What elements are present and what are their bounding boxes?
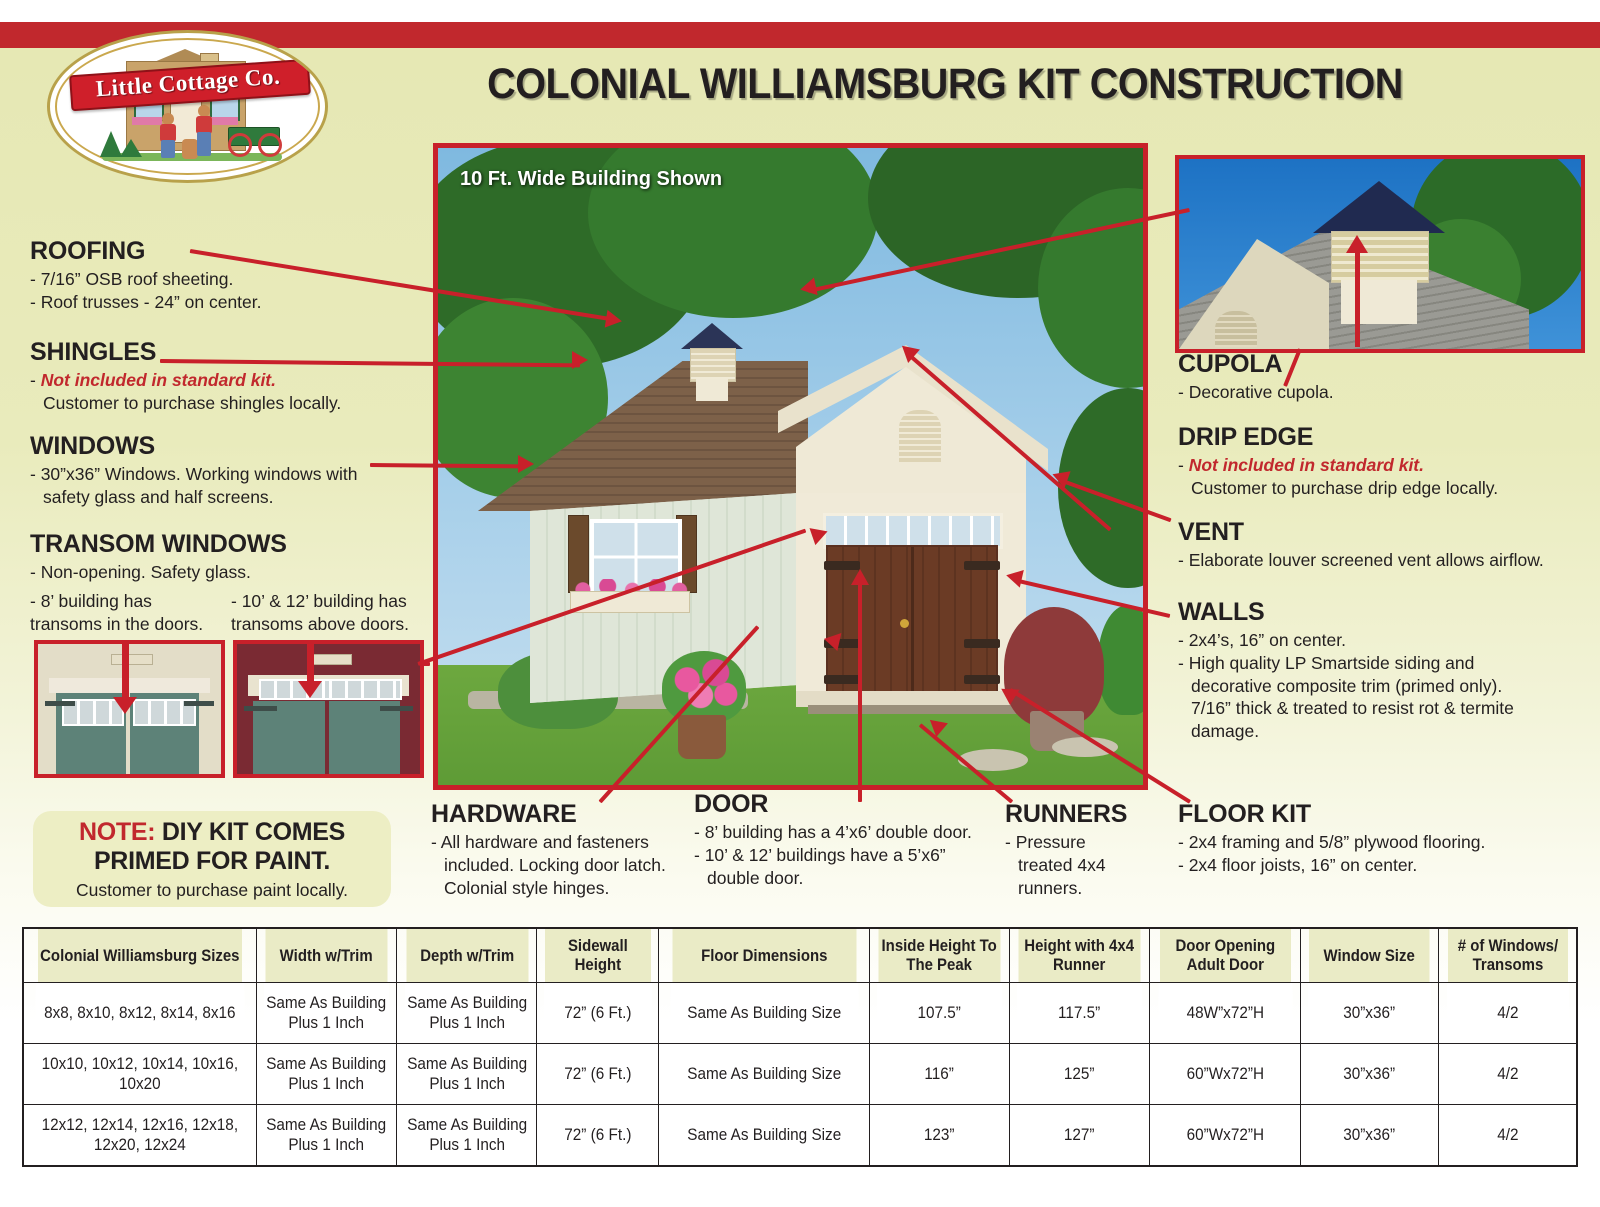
column-header-width: Width w/Trim: [265, 928, 388, 982]
cell-peak: 116”: [876, 1043, 1002, 1104]
feature-line: - 7/16” OSB roof sheeting.: [30, 268, 420, 291]
transom-10-12ft-line: - 10’ & 12’ building has: [231, 590, 421, 613]
dash: -: [30, 370, 36, 390]
feature-line: - Non-opening. Safety glass.: [30, 561, 430, 584]
cell-runner-height: 117.5”: [1016, 982, 1142, 1043]
feature-runners: RUNNERS - Pressure treated 4x4 runners.: [1005, 800, 1165, 899]
cell-depth: Same As Building Plus 1 Inch: [404, 982, 530, 1043]
feature-line: damage.: [1178, 720, 1598, 743]
cupola-closeup-photo: [1175, 155, 1585, 353]
feature-line: - 2x4 framing and 5/8” plywood flooring.: [1178, 831, 1588, 854]
feature-line: 7/16” thick & treated to resist rot & te…: [1178, 697, 1598, 720]
feature-line: - Decorative cupola.: [1178, 381, 1588, 404]
feature-heading: RUNNERS: [1005, 800, 1165, 829]
column-header-floor-dimensions: Floor Dimensions: [671, 928, 856, 982]
logo-ribbon: Little Cottage Co.: [70, 63, 306, 103]
note-box: NOTE: DIY KIT COMES PRIMED FOR PAINT. Cu…: [33, 811, 391, 907]
arrow-cupola: [798, 278, 817, 299]
feature-heading: ROOFING: [30, 237, 420, 266]
feature-line: double door.: [694, 867, 994, 890]
feature-line: - Elaborate louver screened vent allows …: [1178, 549, 1598, 572]
arrow-shingles: [572, 351, 588, 369]
top-white-margin: [0, 0, 1600, 22]
feature-vent: VENT - Elaborate louver screened vent al…: [1178, 518, 1598, 572]
page-title: COLONIAL WILLIAMSBURG KIT CONSTRUCTION: [462, 60, 1428, 109]
feature-line: - All hardware and fasteners: [431, 831, 681, 854]
product-spec-sheet: Little Cottage Co. COLONIAL WILLIAMSBURG…: [0, 0, 1600, 1207]
column-header-sidewall-height: Sidewall Height: [544, 928, 651, 982]
cell-peak: 123”: [876, 1104, 1002, 1166]
cell-door-opening: 60”Wx72”H: [1157, 1043, 1293, 1104]
feature-line: - Roof trusses - 24” on center.: [30, 291, 420, 314]
cell-windows-transoms: 4/2: [1446, 1043, 1570, 1104]
shed-illustration: [478, 323, 1078, 713]
cell-window-size: 30”x36”: [1307, 1104, 1431, 1166]
note-line-2: PRIMED FOR PAINT.: [94, 847, 330, 877]
feature-line: safety glass and half screens.: [30, 486, 430, 509]
column-header-window-size: Window Size: [1309, 928, 1431, 982]
specifications-table: Colonial Williamsburg Sizes Width w/Trim…: [22, 927, 1578, 1167]
transom-10-12ft-line: transoms above doors.: [231, 613, 421, 636]
cell-door-opening: 60”Wx72”H: [1157, 1104, 1293, 1166]
cell-width: Same As Building Plus 1 Inch: [263, 1043, 389, 1104]
arrow-roofing: [605, 310, 624, 330]
feature-line-red: - Not included in standard kit.: [1178, 454, 1588, 477]
cell-depth: Same As Building Plus 1 Inch: [404, 1104, 530, 1166]
feature-heading: SHINGLES: [30, 338, 420, 367]
column-header-height-with-runner: Height with 4x4 Runner: [1018, 928, 1141, 982]
column-header-door-opening: Door Opening Adult Door: [1159, 928, 1292, 982]
cupola-arrow-icon: [1355, 251, 1360, 347]
dash: -: [1178, 455, 1184, 475]
cell-door-opening: 48W”x72”H: [1157, 982, 1293, 1043]
transom-8ft-line: - 8’ building has: [30, 590, 215, 613]
cell-windows-transoms: 4/2: [1446, 1104, 1570, 1166]
feature-line: decorative composite trim (primed only).: [1178, 675, 1598, 698]
4x4-runner: [808, 705, 1018, 714]
cell-depth: Same As Building Plus 1 Inch: [404, 1043, 530, 1104]
column-header-inside-height-peak: Inside Height To The Peak: [878, 928, 1001, 982]
feature-heading: VENT: [1178, 518, 1598, 547]
note-sub: Customer to purchase paint locally.: [76, 880, 348, 901]
cell-sizes: 8x8, 8x10, 8x12, 8x14, 8x16: [35, 982, 245, 1043]
feature-walls: WALLS - 2x4’s, 16” on center. - High qua…: [1178, 598, 1598, 743]
leader-line-door: [858, 576, 862, 802]
transom-windows-above-door: [823, 513, 1003, 549]
feature-line: Customer to purchase shingles locally.: [30, 392, 420, 415]
feature-line: - Pressure: [1005, 831, 1165, 854]
note-label: NOTE:: [79, 818, 155, 846]
cell-runner-height: 125”: [1016, 1043, 1142, 1104]
feature-floor-kit: FLOOR KIT - 2x4 framing and 5/8” plywood…: [1178, 800, 1588, 877]
feature-heading: WINDOWS: [30, 432, 430, 461]
note-line-1: NOTE: DIY KIT COMES: [79, 818, 345, 848]
feature-shingles: SHINGLES - Not included in standard kit.…: [30, 338, 420, 415]
double-door: [826, 545, 998, 693]
feature-cupola: CUPOLA - Decorative cupola.: [1178, 350, 1588, 404]
not-included-note: Not included in standard kit.: [41, 370, 276, 390]
gable-louver-vent: [896, 407, 944, 465]
cell-window-size: 30”x36”: [1307, 982, 1431, 1043]
cell-runner-height: 127”: [1016, 1104, 1142, 1166]
feature-windows: WINDOWS - 30”x36” Windows. Working windo…: [30, 432, 430, 509]
feature-line: - 8’ building has a 4’x6’ double door.: [694, 821, 994, 844]
feature-hardware: HARDWARE - All hardware and fasteners in…: [431, 800, 681, 899]
cell-width: Same As Building Plus 1 Inch: [263, 1104, 389, 1166]
cell-floor: Same As Building Size: [669, 982, 858, 1043]
feature-heading: WALLS: [1178, 598, 1598, 627]
note-line-1-rest: DIY KIT COMES: [155, 818, 345, 846]
feature-line: - High quality LP Smartside siding and: [1178, 652, 1598, 675]
table-row: 8x8, 8x10, 8x12, 8x14, 8x16 Same As Buil…: [23, 982, 1577, 1043]
feature-line: - 2x4’s, 16” on center.: [1178, 629, 1598, 652]
leader-line-inset-b: [420, 662, 430, 666]
feature-line: - 2x4 floor joists, 16” on center.: [1178, 854, 1588, 877]
feature-line: Colonial style hinges.: [431, 877, 681, 900]
feature-line: treated 4x4: [1005, 854, 1165, 877]
little-cottage-co-logo: Little Cottage Co.: [47, 30, 328, 183]
cell-sidewall: 72” (6 Ft.): [543, 1043, 653, 1104]
feature-line: - 10’ & 12’ buildings have a 5’x6”: [694, 844, 994, 867]
table-header-row: Colonial Williamsburg Sizes Width w/Trim…: [23, 928, 1577, 982]
cell-peak: 107.5”: [876, 982, 1002, 1043]
cell-sidewall: 72” (6 Ft.): [543, 982, 653, 1043]
feature-roofing: ROOFING - 7/16” OSB roof sheeting. - Roo…: [30, 237, 420, 314]
table-row: 12x12, 12x14, 12x16, 12x18, 12x20, 12x24…: [23, 1104, 1577, 1166]
not-included-note: Not included in standard kit.: [1189, 455, 1424, 475]
column-header-sizes: Colonial Williamsburg Sizes: [37, 928, 242, 982]
cell-windows-transoms: 4/2: [1446, 982, 1570, 1043]
cupola-on-roof: [681, 323, 743, 401]
feature-line: Customer to purchase drip edge locally.: [1178, 477, 1588, 500]
photo-caption: 10 Ft. Wide Building Shown: [460, 168, 722, 191]
column-header-windows-transoms: # of Windows/ Transoms: [1447, 928, 1569, 982]
feature-line-red: - Not included in standard kit.: [30, 369, 420, 392]
feature-drip-edge: DRIP EDGE - Not included in standard kit…: [1178, 423, 1588, 500]
feature-door: DOOR - 8’ building has a 4’x6’ double do…: [694, 790, 994, 889]
cell-sizes: 12x12, 12x14, 12x16, 12x18, 12x20, 12x24: [35, 1104, 245, 1166]
arrow-door: [851, 569, 869, 585]
transom-8ft-line: transoms in the doors.: [30, 613, 215, 636]
flower-box: [570, 591, 690, 613]
feature-heading: DOOR: [694, 790, 994, 819]
feature-transom-windows: TRANSOM WINDOWS - Non-opening. Safety gl…: [30, 530, 430, 635]
cell-sidewall: 72” (6 Ft.): [543, 1104, 653, 1166]
feature-line: runners.: [1005, 877, 1165, 900]
feature-line: included. Locking door latch.: [431, 854, 681, 877]
feature-line: - 30”x36” Windows. Working windows with: [30, 463, 430, 486]
feature-heading: TRANSOM WINDOWS: [30, 530, 430, 559]
arrow-windows: [518, 455, 534, 473]
door-latch: [900, 619, 909, 628]
table-row: 10x10, 10x12, 10x14, 10x16, 10x20 Same A…: [23, 1043, 1577, 1104]
cell-sizes: 10x10, 10x12, 10x14, 10x16, 10x20: [35, 1043, 245, 1104]
column-header-depth: Depth w/Trim: [405, 928, 528, 982]
cell-floor: Same As Building Size: [669, 1043, 858, 1104]
transom-in-doors-photo: [34, 640, 225, 778]
cell-floor: Same As Building Size: [669, 1104, 858, 1166]
feature-heading: DRIP EDGE: [1178, 423, 1588, 452]
feature-heading: HARDWARE: [431, 800, 681, 829]
feature-heading: FLOOR KIT: [1178, 800, 1588, 829]
transom-above-doors-photo: [233, 640, 424, 778]
feature-heading: CUPOLA: [1178, 350, 1588, 379]
cell-window-size: 30”x36”: [1307, 1043, 1431, 1104]
cell-width: Same As Building Plus 1 Inch: [263, 982, 389, 1043]
